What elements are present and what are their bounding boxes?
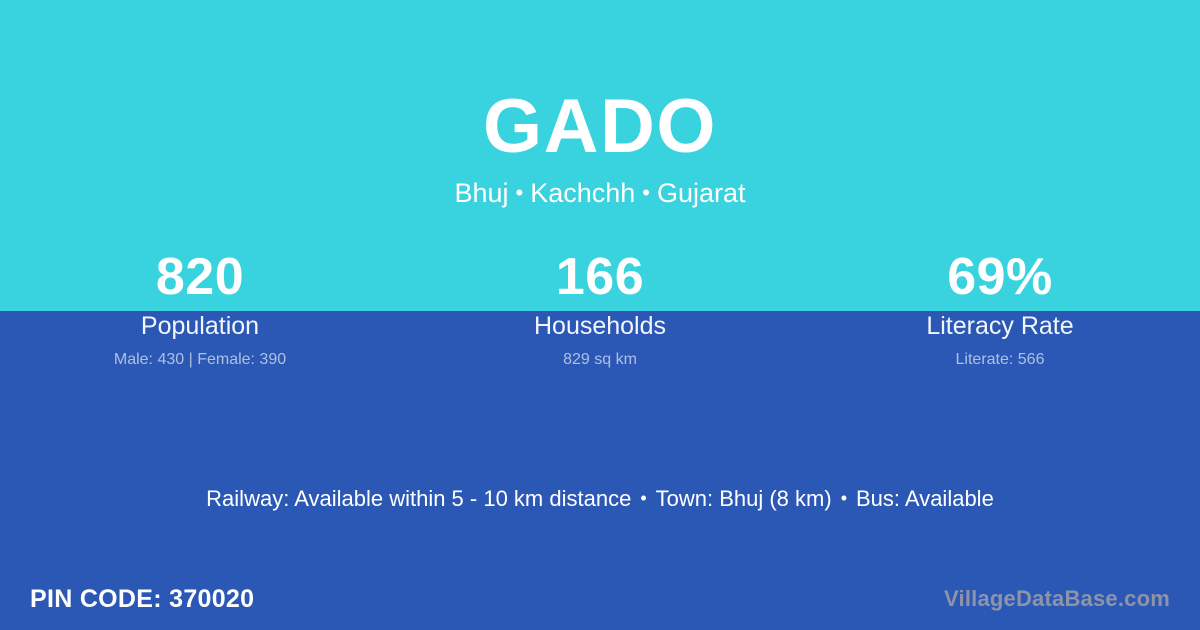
village-location-subtitle: Bhuj•Kachchh•Gujarat — [0, 176, 1200, 212]
stat-literacy-rate-label: Literacy Rate — [800, 311, 1200, 341]
location-separator-1: • — [509, 180, 531, 205]
village-info-card: GADO Bhuj•Kachchh•Gujarat 820 Population… — [0, 0, 1200, 630]
card-header: GADO Bhuj•Kachchh•Gujarat — [0, 0, 1200, 212]
infra-railway: Railway: Available within 5 - 10 km dist… — [206, 486, 631, 511]
location-state: Gujarat — [657, 178, 746, 208]
stat-households-value: 166 — [400, 246, 800, 308]
stat-literacy-rate-sub: Literate: 566 — [800, 350, 1200, 370]
infrastructure-summary: Railway: Available within 5 - 10 km dist… — [0, 483, 1200, 516]
location-taluka: Bhuj — [454, 178, 508, 208]
village-name-title: GADO — [0, 83, 1200, 171]
site-watermark: VillageDataBase.com — [944, 585, 1170, 613]
stat-households-sub: 829 sq km — [400, 350, 800, 370]
stat-population-label: Population — [0, 311, 400, 341]
location-separator-2: • — [635, 180, 657, 205]
card-footer: PIN CODE: 370020 VillageDataBase.com — [0, 568, 1200, 630]
infra-separator-1: • — [631, 488, 655, 508]
stat-population-sub: Male: 430 | Female: 390 — [0, 350, 400, 370]
pin-code-label: PIN CODE: 370020 — [30, 584, 254, 614]
stat-literacy-rate: 69% Literacy Rate Literate: 566 — [800, 246, 1200, 370]
location-district: Kachchh — [530, 178, 635, 208]
stat-population: 820 Population Male: 430 | Female: 390 — [0, 246, 400, 370]
stat-population-value: 820 — [0, 246, 400, 308]
statistics-row: 820 Population Male: 430 | Female: 390 1… — [0, 246, 1200, 370]
stat-households: 166 Households 829 sq km — [400, 246, 800, 370]
stat-literacy-rate-value: 69% — [800, 246, 1200, 308]
infra-bus: Bus: Available — [856, 486, 994, 511]
stat-households-label: Households — [400, 311, 800, 341]
infra-separator-2: • — [832, 488, 856, 508]
infra-town: Town: Bhuj (8 km) — [656, 486, 832, 511]
